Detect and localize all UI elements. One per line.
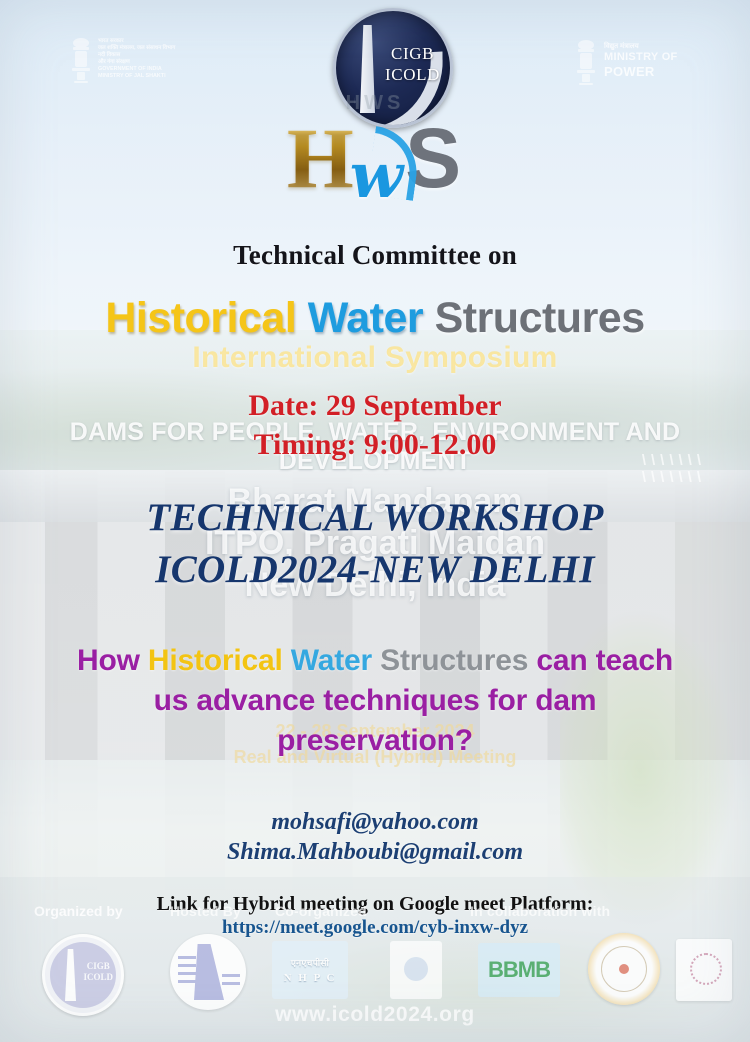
technical-committee-prefix: Technical Committee on	[0, 240, 750, 271]
institute-logo-icon	[676, 939, 732, 1001]
question-line1: How Historical Water Structures can teac…	[0, 641, 750, 681]
ministry-line2-label: POWER	[604, 64, 678, 79]
cigb-icold-logo-icon: CIGB ICOLD	[42, 934, 124, 1016]
seal-logo-center-dot	[619, 964, 629, 974]
ministry-hindi-label: विद्युत मंत्रालय	[604, 42, 678, 51]
cigb-icold-logo-line2: ICOLD	[83, 972, 113, 983]
question-word-historical: Historical	[148, 644, 283, 677]
emblem-left-text-block: भारत सरकार जल शक्ति मंत्रालय, जल संसाधन …	[98, 34, 175, 80]
ministry-line1-label: MINISTRY OF	[604, 51, 678, 64]
incold-stripe-6	[222, 982, 240, 985]
emblem-left-line-5: MINISTRY OF JAL SHAKTI	[98, 73, 175, 80]
event-date-time-block: Date: 29 September Timing: 9:00-12.00	[0, 386, 750, 464]
question-line3: preservation?	[0, 721, 750, 761]
incold-dam-triangle	[194, 944, 224, 1000]
partner-white-logo-mark	[404, 957, 428, 981]
question-space-1	[283, 644, 291, 677]
event-date: Date: 29 September	[0, 386, 750, 425]
partner-logo-row: CIGB ICOLD एनएचपीसी N H P C BBMB	[0, 925, 750, 1005]
ministry-of-power-text-block: विद्युत मंत्रालय MINISTRY OF POWER	[604, 36, 678, 79]
hws-wordmark-reflection: HWS	[0, 92, 750, 114]
cigb-icold-logo-text: CIGB ICOLD	[83, 961, 113, 983]
partner-white-logo-icon	[390, 941, 442, 999]
incold-stripe-1	[178, 956, 196, 959]
workshop-line2: ICOLD2024-NEW DELHI	[0, 544, 750, 596]
ashoka-emblem-icon	[70, 34, 92, 86]
icold-badge-text: CIGB ICOLD	[385, 43, 440, 85]
event-timing: Timing: 9:00-12.00	[0, 425, 750, 464]
title-word-structures: Structures	[435, 294, 645, 342]
poster-canvas: International Symposium DAMS FOR PEOPLE,…	[0, 0, 750, 1042]
hws-letter-h: H	[287, 110, 354, 206]
workshop-question: How Historical Water Structures can teac…	[0, 641, 750, 761]
seal-logo-icon	[588, 933, 660, 1005]
emblem-left-line-2: नदी विकास	[98, 52, 175, 59]
title-word-historical: Historical	[105, 294, 296, 342]
emblem-left-line-1: जल शक्ति मंत्रालय, जल संसाधन विभाग	[98, 45, 175, 52]
contact-emails: mohsafi@yahoo.com Shima.Mahboubi@gmail.c…	[0, 807, 750, 867]
government-of-india-emblem-left: भारत सरकार जल शक्ति मंत्रालय, जल संसाधन …	[70, 34, 250, 98]
organized-by-label: Organized by	[34, 903, 123, 919]
question-word-structures: Structures	[380, 644, 528, 677]
icold-badge-line1: CIGB	[385, 43, 440, 64]
contact-email-2[interactable]: Shima.Mahboubi@gmail.com	[0, 837, 750, 867]
hws-wordmark-inner: HwS	[275, 113, 475, 203]
bbmb-logo-text: BBMB	[488, 957, 550, 983]
incold-stripe-3	[178, 972, 196, 975]
page-title: Historical Water Structures	[0, 294, 750, 343]
emblem-left-line-0: भारत सरकार	[98, 38, 175, 45]
contact-email-1[interactable]: mohsafi@yahoo.com	[0, 807, 750, 837]
chevron-row-2: \\\\\\\	[526, 469, 706, 486]
ashoka-emblem-icon	[575, 36, 597, 88]
question-line2: us advance techniques for dam	[0, 681, 750, 721]
question-prefix: How	[77, 644, 148, 677]
workshop-line1: TECHNICAL WORKSHOP	[0, 492, 750, 544]
incold-stripe-4	[178, 980, 196, 983]
question-suffix: can teach	[528, 644, 673, 677]
question-space-2	[372, 644, 380, 677]
institute-logo-ring	[690, 953, 722, 985]
nhpc-hindi-text: एनएचपीसी	[291, 956, 329, 969]
nhpc-logo-icon: एनएचपीसी N H P C	[272, 941, 348, 999]
question-word-water: Water	[291, 644, 372, 677]
emblem-left-line-4: GOVERNMENT OF INDIA	[98, 66, 175, 73]
bbmb-logo-icon: BBMB	[478, 943, 560, 997]
nhpc-english-text: N H P C	[284, 972, 337, 984]
icold-badge-line2: ICOLD	[385, 64, 440, 85]
workshop-heading: TECHNICAL WORKSHOP ICOLD2024-NEW DELHI	[0, 492, 750, 596]
title-word-water: Water	[308, 294, 423, 342]
incold-dam-logo-icon	[170, 934, 246, 1010]
incold-stripe-2	[178, 964, 196, 967]
ministry-of-power-emblem-right: विद्युत मंत्रालय MINISTRY OF POWER	[575, 36, 725, 98]
hws-wordmark: HwS	[0, 113, 750, 218]
cigb-icold-logo-line1: CIGB	[83, 961, 113, 972]
incold-stripe-5	[222, 974, 240, 977]
emblem-left-line-3: और गंगा संरक्षण	[98, 59, 175, 66]
